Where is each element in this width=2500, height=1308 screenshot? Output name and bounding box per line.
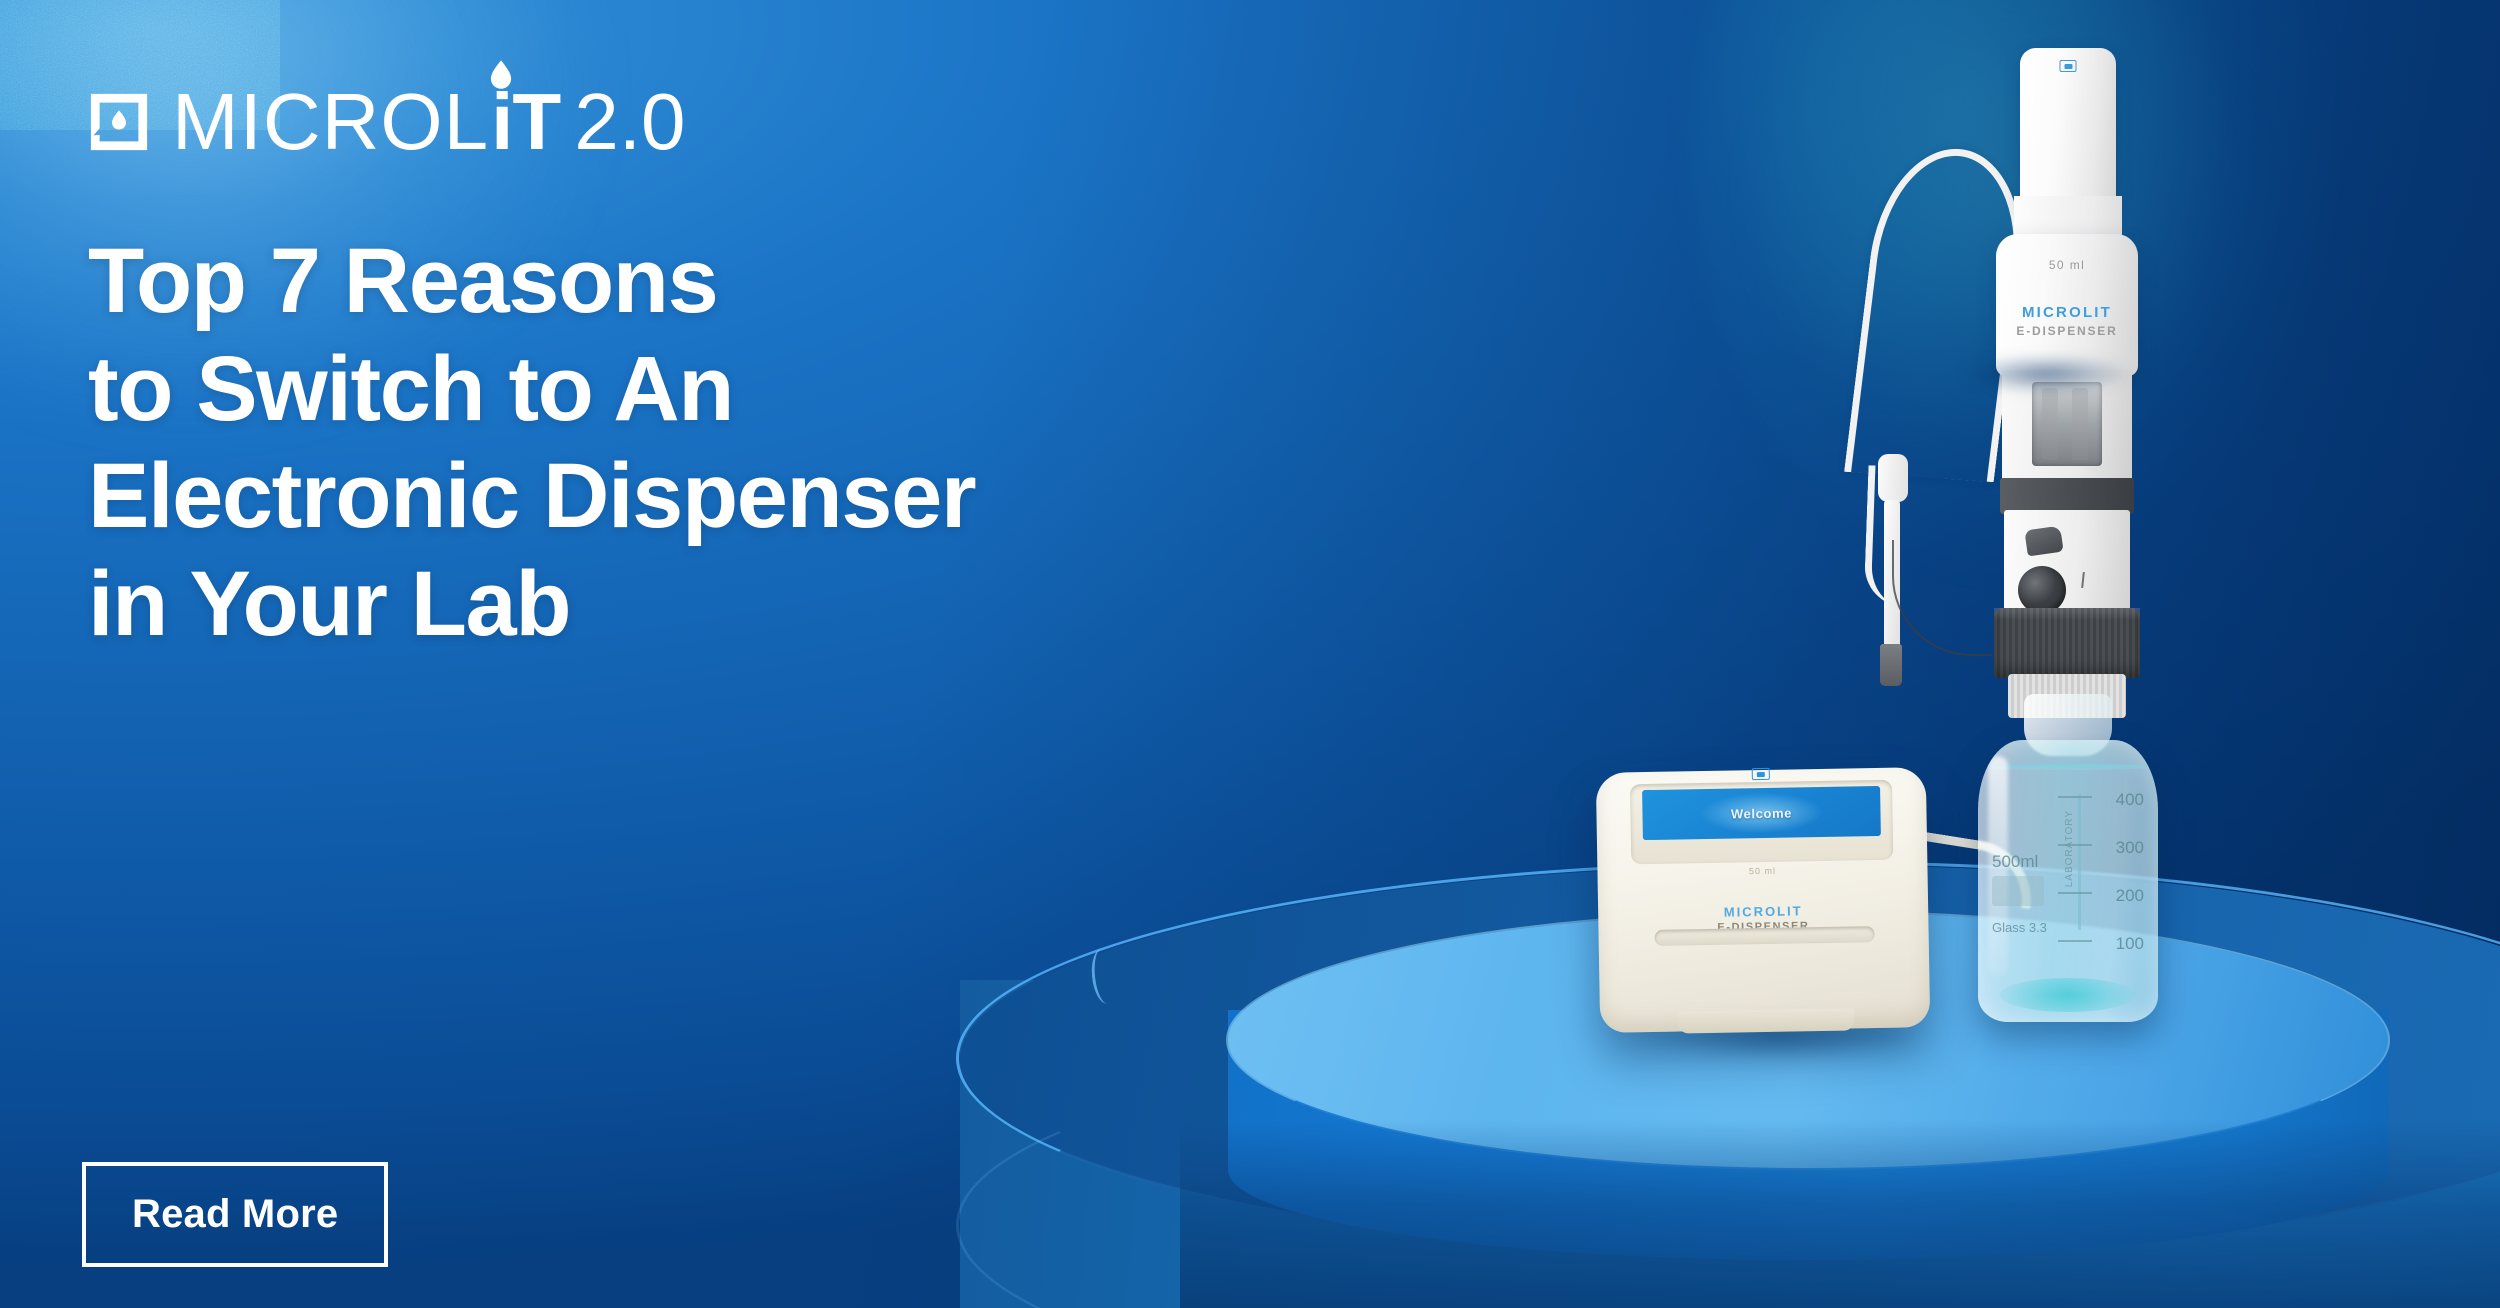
dispenser-lever-knob[interactable] bbox=[2024, 526, 2063, 557]
dispenser-dark-collar-lower bbox=[1994, 608, 2140, 678]
electronic-dispenser: 50 ml MICROLIT E-DISPENSER bbox=[1952, 48, 2192, 1048]
base-unit-foot bbox=[1678, 1008, 1854, 1033]
base-unit-screen[interactable]: Welcome bbox=[1642, 786, 1881, 840]
headline-line-1: Top 7 Reasons bbox=[88, 228, 975, 336]
base-unit-volume-label: 50 ml bbox=[1597, 863, 1927, 879]
screen-welcome-text: Welcome bbox=[1731, 805, 1792, 821]
dispenser-volume-label: 50 ml bbox=[1996, 258, 2138, 272]
graduation-mark: 100 bbox=[2058, 934, 2144, 982]
page-title: Top 7 Reasons to Switch to An Electronic… bbox=[88, 228, 975, 659]
headline-line-4: in Your Lab bbox=[88, 551, 975, 659]
bottle-volume-text: 500ml bbox=[1992, 852, 2050, 872]
banner-content: MICROL i T 2.0 Top 7 Reasons to Switch t… bbox=[88, 0, 1338, 1308]
dispense-valve bbox=[1878, 454, 1908, 502]
bottle-label-block: 500ml Glass 3.3 bbox=[1992, 852, 2050, 935]
headline-line-2: to Switch to An bbox=[88, 336, 975, 444]
dispenser-brand-name: MICROLIT bbox=[1996, 304, 2138, 321]
dispenser-branding: MICROLIT E-DISPENSER bbox=[1996, 304, 2138, 338]
marketing-banner: Welcome 50 ml MICROLIT E-DISPENSER 50 ml… bbox=[0, 0, 2500, 1308]
droplet-icon bbox=[490, 60, 512, 90]
read-more-button[interactable]: Read More bbox=[82, 1162, 388, 1267]
brand-wordmark: MICROL i T 2.0 bbox=[172, 82, 685, 162]
bottle-label-patch bbox=[1992, 876, 2044, 906]
brand-name-main: MICROL bbox=[172, 82, 489, 162]
dispenser-dark-collar-upper bbox=[2000, 478, 2134, 514]
bottle-body: LABORATORY 400 300 200 100 500ml Glass 3… bbox=[1978, 740, 2158, 1022]
dispenser-index-mark bbox=[2081, 572, 2085, 588]
dispenser-top-cap bbox=[2020, 48, 2116, 208]
brand-logo[interactable]: MICROL i T 2.0 bbox=[88, 82, 685, 162]
dispense-nozzle-tip bbox=[1880, 644, 1902, 686]
microlit-chip-icon bbox=[1752, 768, 1770, 780]
brand-version: 2.0 bbox=[574, 82, 685, 162]
microlit-chip-icon bbox=[2060, 60, 2077, 72]
graduation-mark: 200 bbox=[2058, 886, 2144, 934]
liquid-bottom-pool bbox=[2000, 978, 2136, 1012]
graduation-mark: 300 bbox=[2058, 838, 2144, 886]
graduation-label: 400 bbox=[2116, 790, 2144, 810]
graduation-mark: 400 bbox=[2058, 790, 2144, 838]
base-unit-body: Welcome 50 ml MICROLIT E-DISPENSER bbox=[1596, 767, 1930, 1033]
graduation-label: 300 bbox=[2116, 838, 2144, 858]
base-unit: Welcome 50 ml MICROLIT E-DISPENSER bbox=[1596, 767, 1930, 1033]
reagent-bottle: LABORATORY 400 300 200 100 500ml Glass 3… bbox=[1978, 704, 2158, 1034]
brand-name-i: i bbox=[489, 82, 512, 162]
headline-line-3: Electronic Dispenser bbox=[88, 443, 975, 551]
dispenser-rotary-dial[interactable] bbox=[2018, 566, 2066, 614]
bottle-glass-grade-text: Glass 3.3 bbox=[1992, 920, 2050, 935]
dispenser-product-name: E-DISPENSER bbox=[1996, 324, 2138, 338]
graduation-label: 200 bbox=[2116, 886, 2144, 906]
droplet-in-square-icon bbox=[88, 91, 150, 153]
graduation-label: 100 bbox=[2116, 934, 2144, 954]
bottle-graduation-scale: 400 300 200 100 bbox=[2058, 790, 2144, 982]
dispenser-control-body bbox=[2004, 510, 2130, 618]
brand-name-i-letter: i bbox=[491, 77, 512, 166]
bottle-shadow bbox=[1926, 348, 2166, 400]
base-unit-docking-slot bbox=[1655, 926, 1875, 946]
brand-name-t: T bbox=[512, 82, 560, 162]
